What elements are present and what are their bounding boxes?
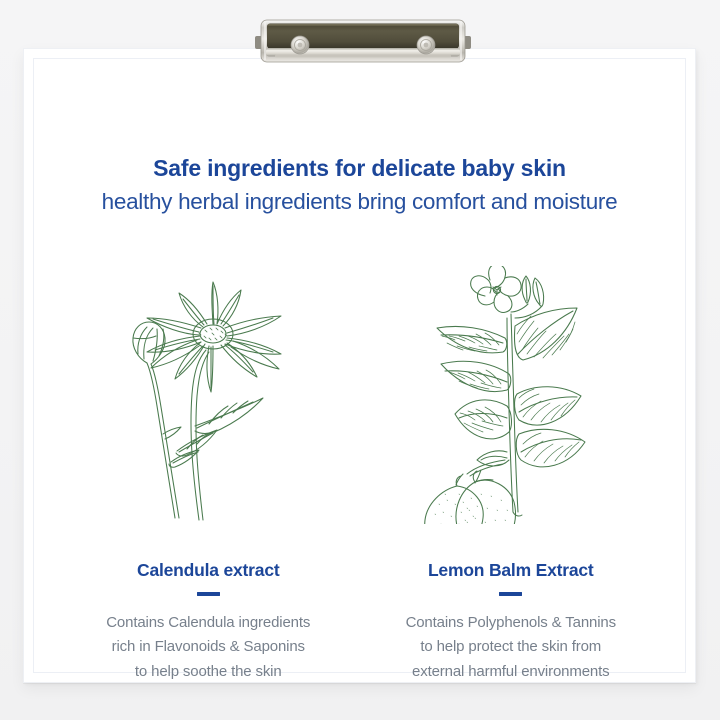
page-background: Safe ingredients for delicate baby skin … [0, 0, 720, 720]
ingredient-card: Safe ingredients for delicate baby skin … [23, 48, 696, 683]
title-divider-lemon-balm [499, 592, 522, 596]
ingredient-column-calendula: Calendula extract Contains Calendula ing… [57, 264, 360, 684]
ingredient-title-calendula: Calendula extract [137, 560, 280, 581]
description-line: Contains Polyphenols & Tannins [406, 611, 616, 635]
header-block: Safe ingredients for delicate baby skin … [24, 155, 695, 216]
ingredient-description-lemon-balm: Contains Polyphenols & Tannins to help p… [406, 611, 616, 684]
lemon-branch-illustration [360, 264, 663, 524]
calendula-flower-illustration [57, 264, 360, 524]
title-divider-calendula [197, 592, 220, 596]
description-line: external harmful environments [406, 660, 616, 684]
page-title: Safe ingredients for delicate baby skin [24, 155, 695, 182]
description-line: rich in Flavonoids & Saponins [106, 635, 310, 659]
ingredient-column-lemon-balm: Lemon Balm Extract Contains Polyphenols … [360, 264, 663, 684]
clip-rivet-left [291, 36, 309, 54]
clip-rivet-right [417, 36, 435, 54]
ingredient-title-lemon-balm: Lemon Balm Extract [428, 560, 594, 581]
description-line: Contains Calendula ingredients [106, 611, 310, 635]
page-subtitle: healthy herbal ingredients bring comfort… [24, 189, 695, 216]
clipboard-clip [255, 18, 471, 64]
ingredient-columns: Calendula extract Contains Calendula ing… [57, 264, 662, 684]
ingredient-description-calendula: Contains Calendula ingredients rich in F… [106, 611, 310, 684]
description-line: to help soothe the skin [106, 660, 310, 684]
description-line: to help protect the skin from [406, 635, 616, 659]
